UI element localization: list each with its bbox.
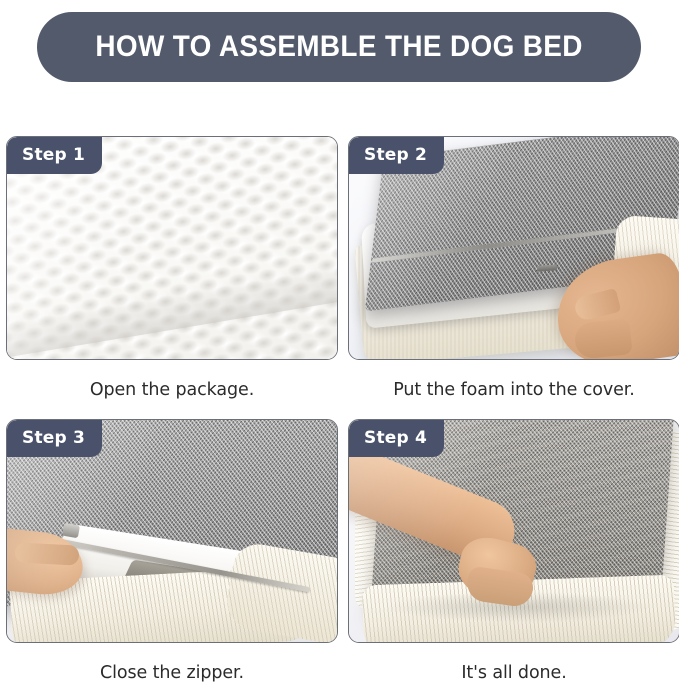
step-cell-4: Step 4 It's all done. (348, 419, 679, 683)
steps-grid: Step 1 Open the package. Step 2 Put the … (0, 136, 679, 690)
fingers (15, 542, 80, 565)
header-banner: HOW TO ASSEMBLE THE DOG BED (37, 12, 641, 82)
step-photo-2: Step 2 (348, 136, 679, 360)
step-badge-2: Step 2 (349, 137, 444, 174)
step-caption-1: Open the package. (6, 380, 338, 400)
step-photo-3: Step 3 (6, 419, 338, 643)
zipper-pull-icon (62, 523, 80, 539)
instruction-infographic: HOW TO ASSEMBLE THE DOG BED Step 1 Open … (0, 0, 679, 690)
step-badge-4: Step 4 (349, 420, 444, 457)
step-photo-4: Step 4 (348, 419, 679, 643)
step-badge-3: Step 3 (7, 420, 102, 457)
step-caption-3: Close the zipper. (6, 663, 338, 683)
step-badge-1: Step 1 (7, 137, 102, 174)
page-title: HOW TO ASSEMBLE THE DOG BED (95, 30, 582, 64)
step-photo-1: Step 1 (6, 136, 338, 360)
step-cell-2: Step 2 Put the foam into the cover. (348, 136, 679, 400)
step-cell-3: Step 3 Close the zipper. (6, 419, 338, 683)
step-caption-2: Put the foam into the cover. (348, 380, 679, 400)
step-caption-4: It's all done. (348, 663, 679, 683)
fingers (573, 318, 632, 360)
step-cell-1: Step 1 Open the package. (6, 136, 338, 400)
